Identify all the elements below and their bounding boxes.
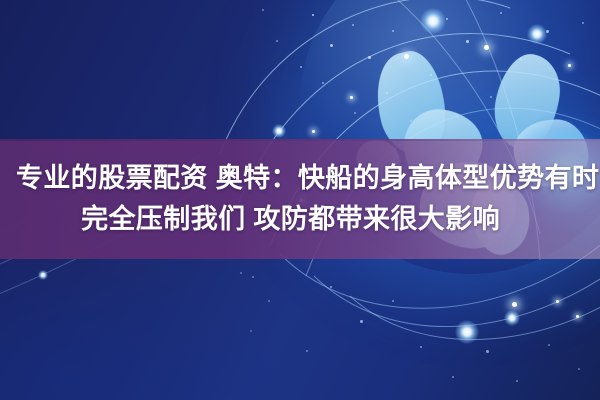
network-node bbox=[404, 54, 409, 59]
star-particle bbox=[520, 58, 522, 60]
network-node bbox=[568, 64, 571, 67]
star-particle bbox=[250, 330, 252, 332]
network-node bbox=[512, 302, 517, 307]
star-particle bbox=[410, 120, 412, 122]
star-particle bbox=[452, 376, 454, 378]
star-particle bbox=[240, 272, 242, 274]
star-particle bbox=[322, 82, 324, 84]
star-particle bbox=[546, 30, 549, 33]
headline-line-1: 专业的股票配资 奥特：快船的身高体型优势有时 bbox=[0, 158, 600, 199]
star-particle bbox=[276, 40, 278, 42]
star-particle bbox=[368, 56, 371, 59]
star-particle bbox=[582, 22, 584, 24]
star-particle bbox=[500, 12, 502, 14]
network-node bbox=[312, 130, 315, 133]
star-particle bbox=[330, 286, 332, 288]
star-particle bbox=[446, 18, 448, 20]
node-flare-icon bbox=[527, 24, 547, 44]
network-node bbox=[576, 315, 579, 318]
network-node bbox=[350, 96, 353, 99]
star-particle bbox=[306, 350, 308, 352]
news-banner: 专业的股票配资 奥特：快船的身高体型优势有时 完全压制我们 攻防都带来很大影响 bbox=[0, 0, 600, 400]
star-particle bbox=[548, 344, 550, 346]
headline-text-block: 专业的股票配资 奥特：快船的身高体型优势有时 完全压制我们 攻防都带来很大影响 bbox=[0, 139, 600, 259]
star-particle bbox=[312, 14, 314, 16]
star-particle bbox=[300, 66, 302, 68]
star-particle bbox=[490, 96, 492, 98]
node-flare-icon bbox=[504, 310, 520, 326]
star-particle bbox=[386, 92, 388, 94]
star-particle bbox=[430, 74, 432, 76]
star-particle bbox=[354, 112, 356, 114]
network-node bbox=[484, 45, 489, 50]
star-particle bbox=[392, 30, 394, 32]
node-flare-icon bbox=[455, 320, 479, 344]
star-particle bbox=[262, 9, 264, 11]
star-particle bbox=[466, 40, 469, 43]
star-particle bbox=[516, 380, 518, 382]
star-particle bbox=[420, 346, 422, 348]
star-particle bbox=[360, 320, 363, 323]
star-particle bbox=[486, 350, 489, 353]
node-flare-icon bbox=[272, 124, 286, 138]
star-particle bbox=[268, 300, 270, 302]
headline-line-2: 完全压制我们 攻防都带来很大影响 bbox=[0, 199, 600, 240]
star-particle bbox=[578, 368, 580, 370]
star-particle bbox=[330, 44, 333, 47]
node-flare-icon bbox=[38, 270, 48, 280]
star-particle bbox=[252, 276, 254, 278]
star-particle bbox=[392, 300, 394, 302]
network-node bbox=[556, 300, 559, 303]
node-flare-icon bbox=[420, 8, 446, 34]
star-particle bbox=[352, 24, 354, 26]
